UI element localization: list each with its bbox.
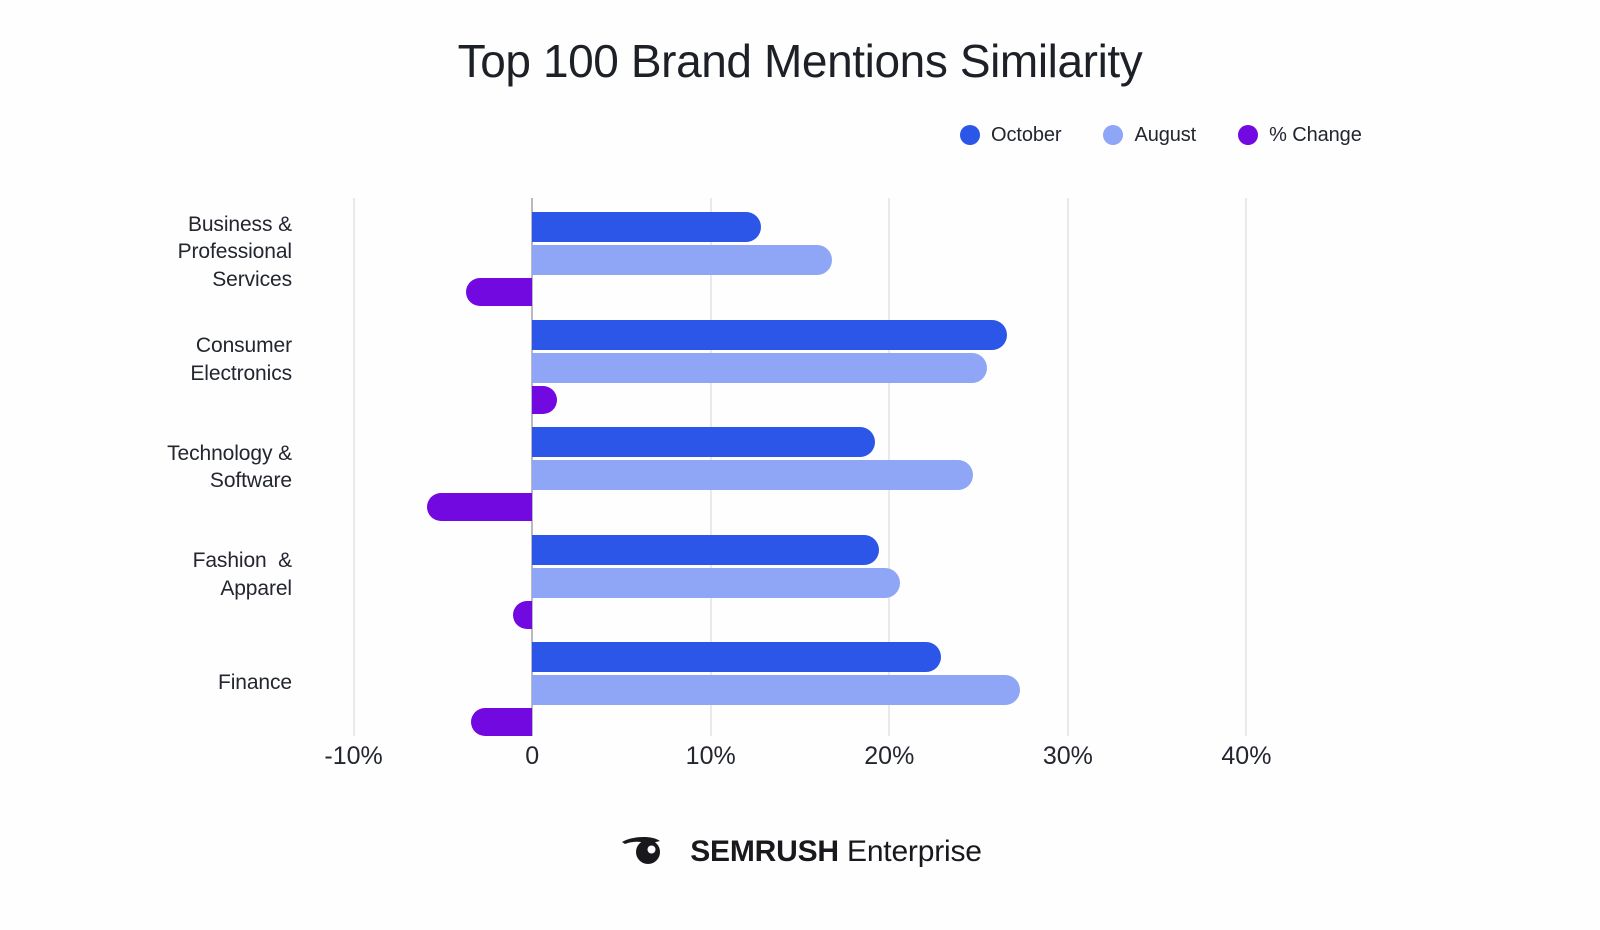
bar-change[interactable]	[471, 708, 532, 736]
category-row: ConsumerElectronics	[300, 306, 1300, 414]
bar-august[interactable]	[532, 675, 1020, 705]
x-axis-tick-labels: -10%010%20%30%40%	[300, 742, 1300, 782]
legend-item-october[interactable]: October	[960, 124, 1061, 147]
bar-change[interactable]	[466, 278, 532, 306]
category-label: Business &ProfessionalServices	[32, 211, 292, 294]
category-row: Business &ProfessionalServices	[300, 198, 1300, 306]
bar-october[interactable]	[532, 320, 1007, 350]
category-label-line: Consumer	[32, 332, 292, 360]
bar-october[interactable]	[532, 642, 941, 672]
category-label-line: Software	[32, 467, 292, 495]
legend-label: August	[1134, 124, 1196, 147]
category-label-line: Apparel	[32, 575, 292, 603]
brand-name-semrush: SEMRUSH	[690, 835, 839, 868]
bar-change[interactable]	[513, 601, 533, 629]
brand-footer: SEMRUSH Enterprise	[0, 832, 1600, 871]
x-tick-label: 30%	[1043, 742, 1093, 771]
category-label-line: Business &	[32, 211, 292, 239]
legend-dot-icon	[1238, 125, 1258, 145]
bar-change[interactable]	[532, 386, 557, 414]
x-tick-label: 0	[525, 742, 539, 771]
legend-dot-icon	[1103, 125, 1123, 145]
category-label-line: Finance	[32, 669, 292, 697]
legend-label: % Change	[1269, 124, 1362, 147]
bar-august[interactable]	[532, 353, 987, 383]
category-label: Fashion &Apparel	[32, 547, 292, 602]
legend-item-change[interactable]: % Change	[1238, 124, 1362, 147]
bar-august[interactable]	[532, 460, 973, 490]
category-row: Fashion &Apparel	[300, 521, 1300, 629]
chart-card: Top 100 Brand Mentions Similarity Octobe…	[0, 0, 1600, 930]
bar-august[interactable]	[532, 568, 900, 598]
category-row: Technology &Software	[300, 413, 1300, 521]
brand-name-product: Enterprise	[847, 835, 982, 868]
category-label-line: Electronics	[32, 360, 292, 388]
x-tick-label: 10%	[686, 742, 736, 771]
category-label: Technology &Software	[32, 440, 292, 495]
brand-name: SEMRUSH Enterprise	[690, 835, 982, 869]
chart-title: Top 100 Brand Mentions Similarity	[0, 34, 1600, 88]
category-label-line: Fashion &	[32, 547, 292, 575]
category-label: ConsumerElectronics	[32, 332, 292, 387]
semrush-logo-icon	[618, 832, 676, 871]
chart-legend: OctoberAugust% Change	[960, 120, 1440, 150]
bar-october[interactable]	[532, 535, 878, 565]
category-label-line: Technology &	[32, 440, 292, 468]
legend-label: October	[991, 124, 1061, 147]
bar-august[interactable]	[532, 245, 832, 275]
x-tick-label: -10%	[324, 742, 382, 771]
category-label-line: Professional	[32, 238, 292, 266]
x-tick-label: 40%	[1221, 742, 1271, 771]
legend-dot-icon	[960, 125, 980, 145]
category-label: Finance	[32, 669, 292, 697]
bar-october[interactable]	[532, 427, 875, 457]
x-tick-label: 20%	[864, 742, 914, 771]
legend-item-august[interactable]: August	[1103, 124, 1196, 147]
category-row: Finance	[300, 628, 1300, 736]
plot-area: Business &ProfessionalServicesConsumerEl…	[300, 198, 1300, 736]
bar-october[interactable]	[532, 212, 761, 242]
category-label-line: Services	[32, 266, 292, 294]
bar-change[interactable]	[427, 493, 532, 521]
